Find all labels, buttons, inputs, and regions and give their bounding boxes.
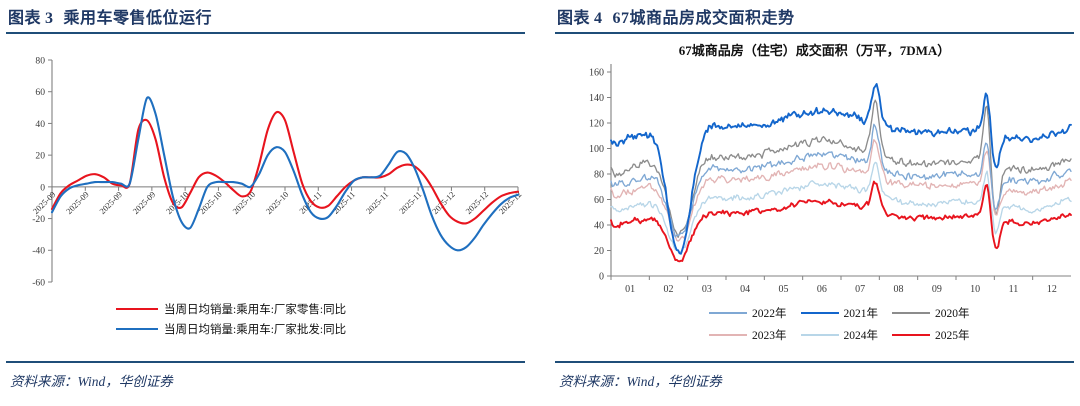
figure-number: 3 [45, 10, 54, 27]
svg-text:04: 04 [740, 284, 750, 295]
svg-text:60: 60 [35, 87, 45, 98]
svg-text:12: 12 [1047, 284, 1057, 295]
svg-text:09: 09 [932, 284, 942, 295]
svg-text:-60: -60 [32, 277, 45, 288]
svg-text:2025-09: 2025-09 [65, 190, 91, 216]
figure-number: 4 [594, 10, 603, 27]
svg-text:0: 0 [40, 182, 45, 193]
title-divider [555, 32, 1074, 34]
figure-label: 图表 [8, 10, 41, 27]
figure-panel-3: 图表3乘用车零售低位运行 806040200-20-40-602025-0920… [0, 0, 531, 406]
legend-swatch-wholesale [116, 328, 158, 330]
svg-text:2025-11: 2025-11 [398, 190, 424, 216]
source-note-3: 资料来源：Wind，华创证券 [10, 370, 173, 390]
svg-text:160: 160 [589, 68, 604, 79]
svg-text:2025-10: 2025-10 [264, 190, 290, 216]
legend-row-1: 2022年 2021年 2020年 [709, 302, 1049, 324]
svg-text:40: 40 [594, 221, 604, 232]
svg-text:80: 80 [594, 170, 604, 181]
svg-text:07: 07 [855, 284, 865, 295]
figure-panel-4: 图表467城商品房成交面积走势 67城商品房（住宅）成交面积（万平，7DMA） … [549, 0, 1080, 406]
svg-text:20: 20 [35, 151, 45, 162]
source-note-4: 资料来源：Wind，华创证券 [559, 370, 722, 390]
legend-swatch-2020 [892, 312, 930, 314]
legend-item-2021[interactable]: 2021年 [801, 305, 879, 321]
legend-label-2020: 2020年 [935, 305, 970, 321]
legend-item-2025[interactable]: 2025年 [892, 327, 970, 343]
panel-title-4: 图表467城商品房成交面积走势 [557, 4, 795, 28]
svg-text:-20: -20 [32, 214, 45, 225]
legend-item-2020[interactable]: 2020年 [892, 305, 970, 321]
svg-text:140: 140 [589, 93, 604, 104]
figure-label: 图表 [557, 10, 590, 27]
chart-heading-housing: 67城商品房（住宅）成交面积（万平，7DMA） [549, 40, 1080, 59]
footer-divider [6, 361, 525, 363]
svg-text:05: 05 [779, 284, 789, 295]
legend-swatch-2022 [709, 312, 747, 314]
legend-item-retail[interactable]: 当周日均销量:乘用车:厂家零售:同比 [116, 299, 346, 319]
legend-label-2023: 2023年 [752, 327, 787, 343]
figure-title-text: 67城商品房成交面积走势 [613, 10, 795, 27]
svg-text:60: 60 [594, 195, 604, 206]
figures-sheet: 图表3乘用车零售低位运行 806040200-20-40-602025-0920… [0, 0, 1080, 406]
legend-label-retail: 当周日均销量:乘用车:厂家零售:同比 [164, 301, 346, 317]
legend-label-2024: 2024年 [844, 327, 879, 343]
svg-text:08: 08 [894, 284, 904, 295]
legend-item-2024[interactable]: 2024年 [801, 327, 879, 343]
svg-text:2025-10: 2025-10 [231, 190, 257, 216]
svg-text:40: 40 [35, 119, 45, 130]
footer-divider [555, 361, 1074, 363]
svg-text:2025-12: 2025-12 [464, 190, 490, 216]
svg-text:11: 11 [1009, 284, 1019, 295]
svg-text:06: 06 [817, 284, 827, 295]
legend-swatch-2023 [709, 334, 747, 336]
figure-title-text: 乘用车零售低位运行 [64, 10, 213, 27]
legend-label-2022: 2022年 [752, 305, 787, 321]
legend-item-2022[interactable]: 2022年 [709, 305, 787, 321]
legend-swatch-2021 [801, 312, 839, 314]
legend-swatch-2024 [801, 334, 839, 336]
legend-swatch-2025 [892, 334, 930, 336]
panel-title-3: 图表3乘用车零售低位运行 [8, 4, 212, 28]
svg-text:2025-09: 2025-09 [131, 190, 157, 216]
title-divider [6, 32, 525, 34]
legend-auto-retail: 当周日均销量:乘用车:厂家零售:同比 当周日均销量:乘用车:厂家批发:同比 [116, 299, 346, 339]
svg-text:02: 02 [664, 284, 674, 295]
svg-text:-40: -40 [32, 246, 45, 257]
svg-text:03: 03 [702, 284, 712, 295]
svg-text:120: 120 [589, 119, 604, 130]
svg-text:2025-11: 2025-11 [364, 190, 390, 216]
svg-text:2025-09: 2025-09 [98, 190, 124, 216]
legend-label-2025: 2025年 [935, 327, 970, 343]
legend-item-2023[interactable]: 2023年 [709, 327, 787, 343]
svg-text:80: 80 [35, 55, 45, 66]
legend-label-wholesale: 当周日均销量:乘用车:厂家批发:同比 [164, 321, 346, 337]
svg-text:10: 10 [970, 284, 980, 295]
legend-housing-area: 2022年 2021年 2020年 2023年 2024年 [709, 302, 1049, 346]
svg-text:100: 100 [589, 144, 604, 155]
svg-text:2025-09: 2025-09 [31, 190, 57, 216]
svg-text:01: 01 [625, 284, 635, 295]
legend-swatch-retail [116, 308, 158, 310]
svg-text:0: 0 [599, 272, 604, 283]
svg-text:20: 20 [594, 246, 604, 257]
legend-label-2021: 2021年 [844, 305, 879, 321]
legend-item-wholesale[interactable]: 当周日均销量:乘用车:厂家批发:同比 [116, 319, 346, 339]
legend-row-2: 2023年 2024年 2025年 [709, 324, 1049, 346]
